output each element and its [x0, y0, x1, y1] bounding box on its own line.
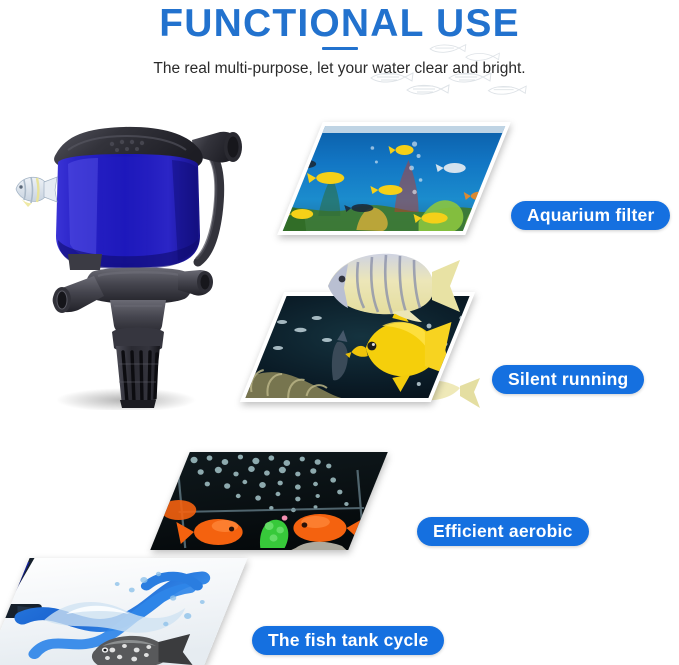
water-cycle-image: [0, 558, 248, 665]
page-title: FUNCTIONAL USE: [0, 2, 679, 46]
title-divider: [322, 47, 358, 50]
feature-badge-efficient-aerobic[interactable]: Efficient aerobic: [417, 517, 589, 546]
submersible-aquarium-pump: [6, 110, 256, 410]
feature-badge-silent-running[interactable]: Silent running: [492, 365, 644, 394]
aerated-tank-photo[interactable]: [150, 452, 388, 550]
aerated-tank-image: [150, 452, 388, 550]
yellow-tang-image: [240, 296, 475, 398]
feature-badge-aquarium-filter[interactable]: Aquarium filter: [511, 201, 670, 230]
infographic-page: FUNCTIONAL USE The real multi-purpose, l…: [0, 0, 679, 665]
yellow-tang-photo[interactable]: [240, 292, 475, 402]
angelfish-icon: [8, 168, 60, 210]
planted-aquarium-photo[interactable]: [277, 122, 511, 235]
water-cycle-photo[interactable]: [0, 558, 248, 665]
planted-aquarium-image: [277, 126, 511, 231]
feature-badge-fish-tank-cycle[interactable]: The fish tank cycle: [252, 626, 444, 655]
page-subtitle: The real multi-purpose, let your water c…: [0, 58, 679, 80]
